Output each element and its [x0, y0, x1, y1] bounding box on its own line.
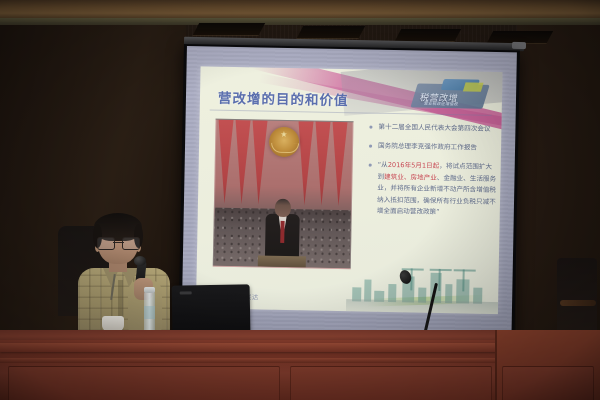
- conference-room-photo: 营改增的目的和价值 税营改增 营业税改征增值税: [0, 0, 600, 400]
- ceiling-vent: [297, 26, 365, 38]
- rostrum-panel: [290, 366, 492, 400]
- slide-bullet-list: 第十二届全国人民代表大会第四次会议 国务院总理李克强作政府工作报告 “从2016…: [368, 122, 498, 220]
- bullet-item: 国务院总理李克强作政府工作报告: [369, 141, 497, 153]
- handheld-microphone-head-icon: [134, 256, 146, 266]
- slide-title: 营改增的目的和价值: [218, 87, 349, 110]
- screen-roller-knob: [512, 42, 526, 49]
- water-bottle-label: [144, 306, 155, 319]
- paragraph-text-3: 、金融业、生活: [437, 173, 483, 182]
- bullet-item: 第十二届全国人民代表大会第四次会议: [369, 122, 497, 134]
- laptop: [172, 284, 251, 333]
- red-banner: [251, 120, 268, 204]
- city-skyline-graphic: [346, 259, 499, 314]
- photo-speaker-figure: [265, 199, 300, 262]
- red-banner: [314, 122, 331, 206]
- laptop-logo: [180, 291, 192, 294]
- ceiling-vent: [395, 29, 461, 41]
- red-banner: [234, 120, 251, 204]
- eyeglasses-icon: [97, 237, 140, 248]
- photo-podium: [258, 255, 306, 268]
- rostrum-panel: [8, 366, 280, 400]
- paragraph-highlight-industries: 建筑业、房地产业: [384, 172, 437, 181]
- paragraph-lead: “从: [378, 161, 388, 169]
- bullet-paragraph: “从2016年5月1日起，将试点范围扩大到建筑业、房地产业、金融业、生活服务业，…: [368, 160, 497, 220]
- presenter: [78, 218, 170, 338]
- eyeglass-lens-right: [122, 237, 140, 250]
- badge-accent: [463, 82, 484, 91]
- red-banner: [297, 121, 314, 205]
- water-bottle-cap: [144, 287, 155, 293]
- badge-subtext: 营业税改征增值税: [423, 101, 459, 108]
- side-chair: [557, 258, 597, 336]
- eyeglass-lens-left: [97, 237, 115, 250]
- presentation-slide: 营改增的目的和价值 税营改增 营业税改征增值税: [196, 66, 503, 314]
- emblem-star-icon: ★: [280, 130, 287, 139]
- paragraph-highlight-date: 2016年5月1日起: [388, 161, 440, 170]
- great-hall-photo: ★: [213, 119, 354, 270]
- red-banner: [217, 120, 234, 204]
- red-banner: [331, 122, 348, 206]
- paragraph-text-1: ，将试点范围扩: [439, 162, 485, 171]
- ceiling-vent: [193, 23, 265, 35]
- skyline-building: [364, 280, 371, 302]
- speaker-tie: [280, 221, 284, 243]
- eyeglass-bridge: [113, 242, 124, 243]
- speaker-head: [275, 199, 291, 217]
- side-chair-armrest: [560, 300, 596, 306]
- tax-reform-badge: 税营改增 营业税改征增值税: [408, 78, 493, 114]
- rostrum-panel: [502, 366, 594, 400]
